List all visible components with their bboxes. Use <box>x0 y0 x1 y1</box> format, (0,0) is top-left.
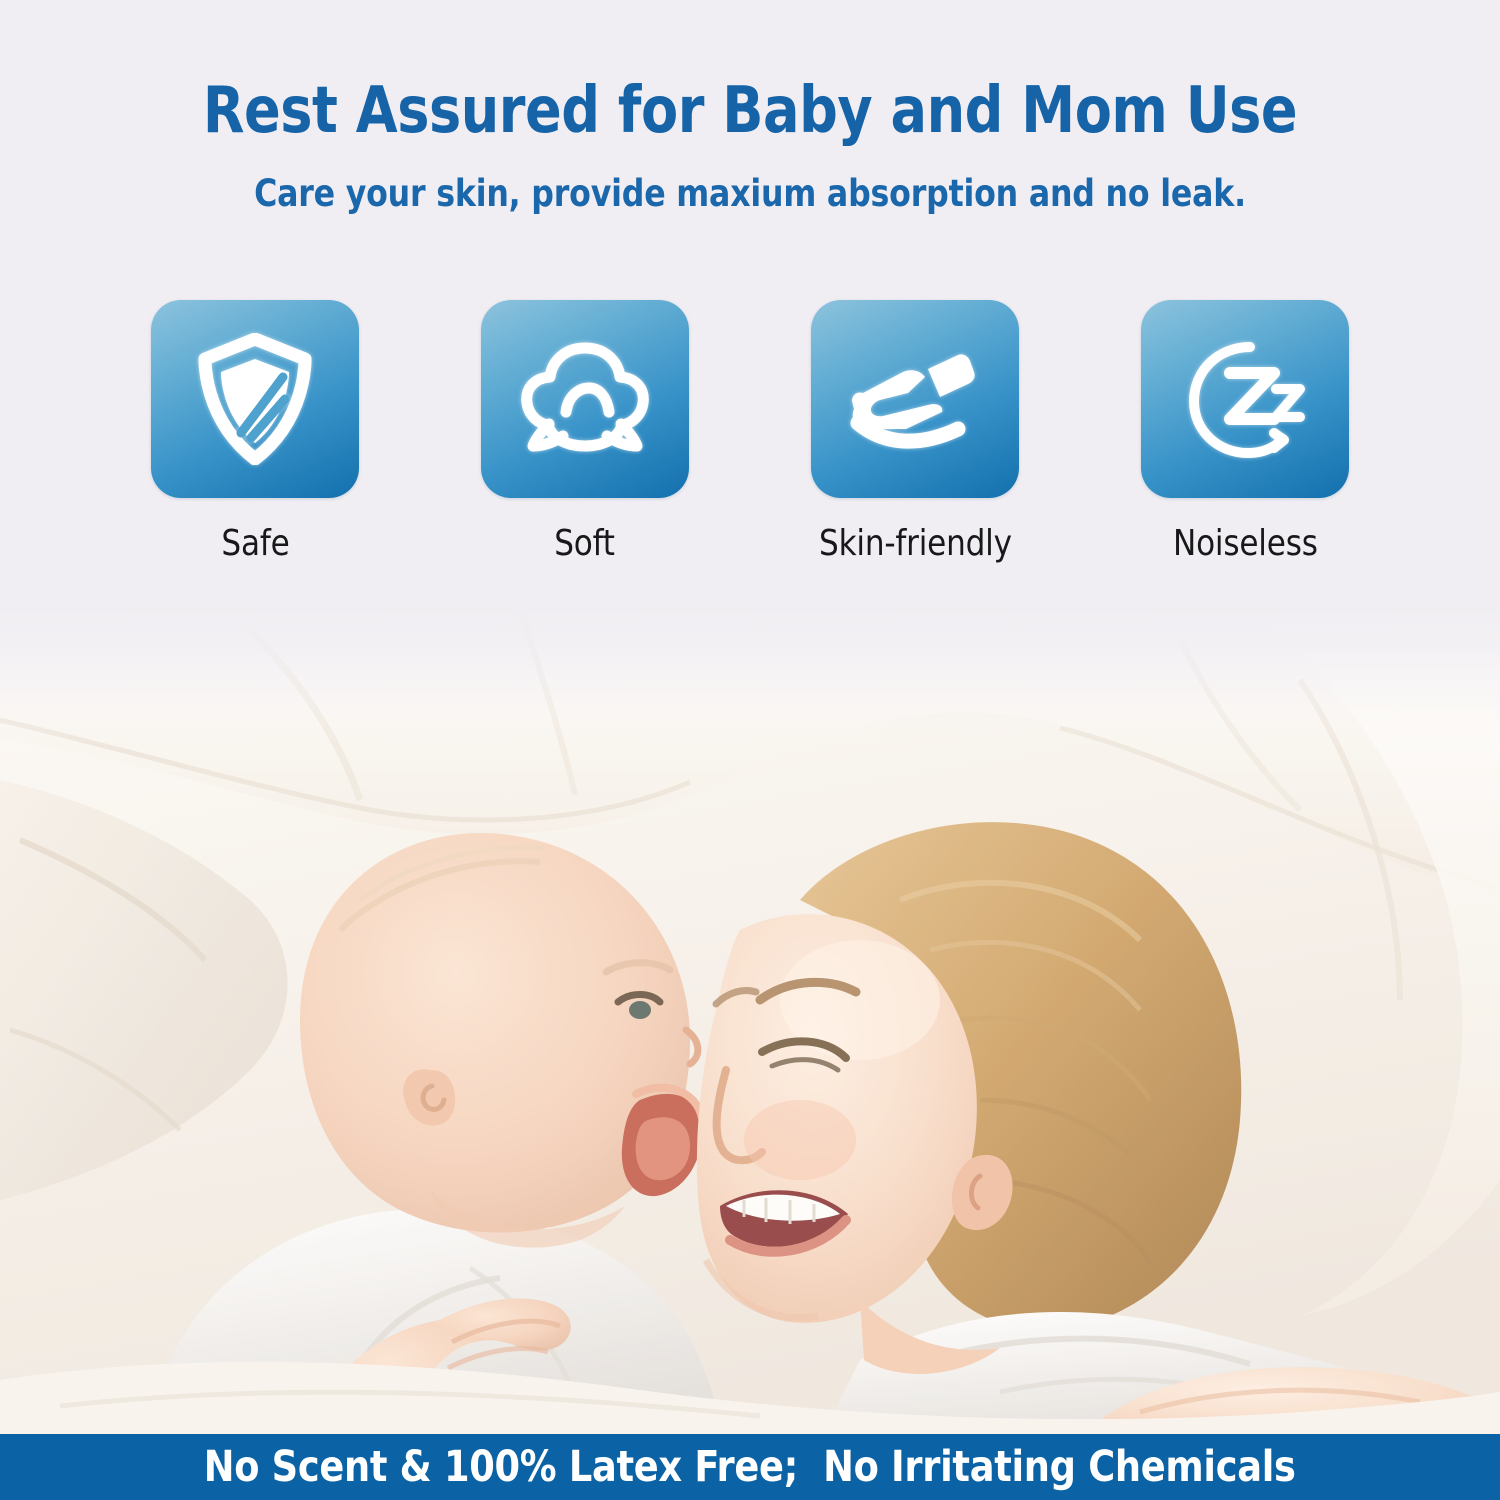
feature-label-noiseless: Noiseless <box>1173 523 1318 564</box>
product-feature-page: Rest Assured for Baby and Mom Use Care y… <box>0 0 1500 1500</box>
feature-item-skin-friendly: Skin-friendly <box>811 300 1019 564</box>
feature-item-soft: Soft <box>481 300 689 564</box>
feature-icon-tile-skin-friendly <box>811 300 1019 498</box>
feature-icon-tile-soft <box>481 300 689 498</box>
feature-icon-tile-noiseless <box>1141 300 1349 498</box>
feature-item-noiseless: Noiseless <box>1141 300 1349 564</box>
page-subtitle: Care your skin, provide maxium absorptio… <box>38 172 1463 215</box>
cotton-cloud-icon <box>519 336 651 462</box>
bottom-banner: No Scent & 100% Latex Free; No Irritatin… <box>0 1434 1500 1500</box>
feature-item-safe: Safe <box>151 300 359 564</box>
feature-label-skin-friendly: Skin-friendly <box>819 523 1012 564</box>
feature-label-safe: Safe <box>221 523 289 564</box>
feature-list: Safe Soft <box>0 300 1500 564</box>
moon-zzz-icon <box>1178 337 1312 461</box>
feature-icon-tile-safe <box>151 300 359 498</box>
shield-icon <box>195 333 315 465</box>
lifestyle-photo <box>0 600 1500 1440</box>
feature-label-soft: Soft <box>555 523 616 564</box>
bottom-banner-text: No Scent & 100% Latex Free; No Irritatin… <box>204 1442 1296 1492</box>
page-title: Rest Assured for Baby and Mom Use <box>45 78 1455 145</box>
open-hand-icon <box>846 345 984 453</box>
